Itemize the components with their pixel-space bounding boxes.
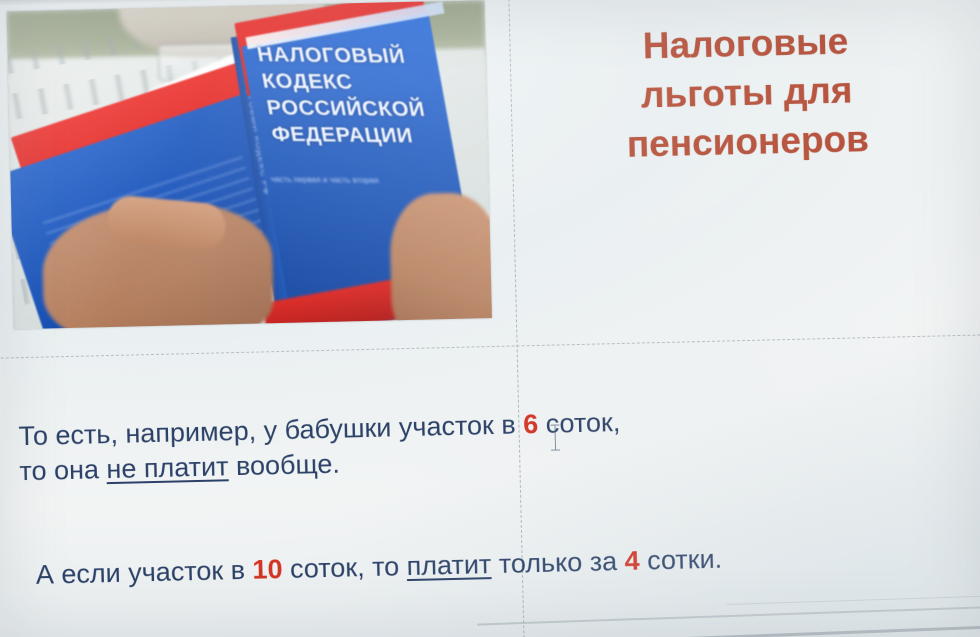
slide-canvas[interactable]: НАЛОГОВЫЙ КОДЕКС РФ НАЛОГОВЫЙ КОДЕКС РОС… <box>0 0 980 637</box>
p1-text-b: соток, <box>538 407 621 439</box>
slide-screenshot: НАЛОГОВЫЙ КОДЕКС РФ НАЛОГОВЫЙ КОДЕКС РОС… <box>0 0 980 637</box>
p2-text-a: А если участок в <box>36 555 253 590</box>
slide-body-paragraph-2[interactable]: А если участок в 10 соток, то платит тол… <box>35 542 722 593</box>
photo-book-title-line-1: НАЛОГОВЫЙ <box>255 42 474 71</box>
slide-title[interactable]: Налоговые льготы для пенсионеров <box>545 15 948 171</box>
photo-book-title-line-3: РОССИЙСКОЙ <box>265 95 484 124</box>
desk-edge-3 <box>727 593 980 605</box>
slide-body-paragraph-1[interactable]: То есть, например, у бабушки участок в 6… <box>18 405 621 489</box>
p2-number-10: 10 <box>252 554 283 585</box>
photo-book-title-line-2: КОДЕКС <box>260 69 479 98</box>
p2-text-d: сотки. <box>639 544 722 576</box>
p1-text-c: то она <box>19 454 107 486</box>
p2-text-c: только за <box>491 546 625 579</box>
p1-text-d: вообще. <box>228 449 340 482</box>
p2-text-b: соток, то <box>282 551 407 584</box>
desk-edge-1 <box>477 603 980 625</box>
p2-underlined-platit: платит <box>406 549 491 581</box>
desk-edge-2 <box>508 622 980 637</box>
horizontal-guide <box>1 334 980 359</box>
photo-book-title-line-4: ФЕДЕРАЦИИ <box>270 122 489 151</box>
vertical-center-guide <box>508 0 525 637</box>
photo-book-title: НАЛОГОВЫЙ КОДЕКС РОССИЙСКОЙ ФЕДЕРАЦИИ <box>259 25 485 168</box>
slide-title-line-3: пенсионеров <box>547 113 948 171</box>
p1-underlined-ne-platit: не платит <box>106 451 229 484</box>
photo-person-hand-right <box>389 192 492 330</box>
screen-surface: НАЛОГОВЫЙ КОДЕКС РФ НАЛОГОВЫЙ КОДЕКС РОС… <box>0 0 980 637</box>
photo-content: НАЛОГОВЫЙ КОДЕКС РФ НАЛОГОВЫЙ КОДЕКС РОС… <box>7 0 492 329</box>
slide-image-tax-code-photo[interactable]: НАЛОГОВЫЙ КОДЕКС РФ НАЛОГОВЫЙ КОДЕКС РОС… <box>7 0 492 329</box>
p1-number-6: 6 <box>523 409 539 439</box>
p2-number-4: 4 <box>624 546 640 576</box>
photo-book-subtitle: часть первая и часть вторая <box>270 174 466 188</box>
